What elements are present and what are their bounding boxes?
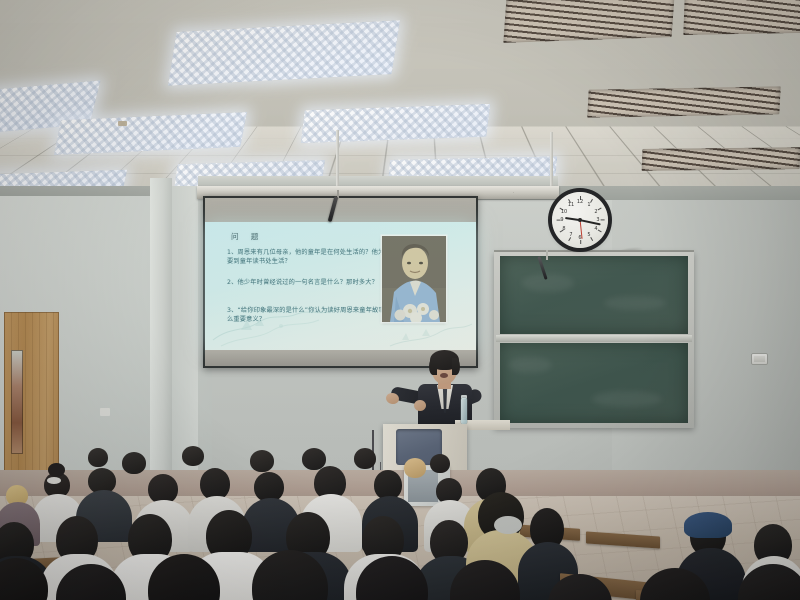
clock-numeral: 7 (569, 232, 572, 238)
student-audience (0, 430, 800, 600)
student-hair-bun (48, 463, 65, 477)
pointer-hook-rod (546, 250, 548, 260)
wall-clock: 12 1 2 3 4 5 6 7 8 9 10 11 (552, 192, 608, 248)
cap (684, 512, 732, 538)
presenter-hair-side (429, 358, 437, 375)
ceiling-air-vent (587, 86, 781, 117)
ceiling (0, 0, 800, 205)
screen-mount-rod (336, 130, 339, 188)
hair-clip (494, 516, 522, 534)
blackboard-panel-lower (500, 343, 688, 423)
chalk-smudge (508, 357, 552, 373)
screen-blank-top (205, 198, 476, 224)
ceiling-air-vent (503, 0, 674, 43)
chalk-rail (496, 335, 692, 342)
chalk-smudge (604, 296, 666, 310)
presenter-right-hand (414, 400, 426, 411)
student-head (354, 448, 376, 469)
student-head (88, 448, 108, 467)
slide-question-1: 1、周恩来有几位母亲，他的童年是在何处生活的？他为什么要到童年读书处生活？ (227, 248, 399, 266)
student-head (182, 446, 204, 466)
student-head (122, 452, 146, 474)
clock-tick (601, 219, 605, 220)
screen-housing-label: · (513, 190, 515, 195)
ceiling-light-panel (168, 20, 400, 86)
clock-numeral: 8 (562, 226, 565, 232)
projected-slide: 问 题 1、周恩来有几位母亲，他的童年是在何处生活的？他为什么要到童年读书处生活… (205, 222, 476, 350)
presenter-mouth (440, 373, 448, 378)
clock-numeral: 1 (587, 202, 590, 208)
lecture-hall-photo: · 问 题 1、周恩来有几位母亲，他的童年是在何处生活的？他为什么要到童年读书处… (0, 0, 800, 600)
clock-center-pivot (578, 218, 582, 222)
clock-numeral: 5 (587, 232, 590, 238)
slide-question-2: 2、他少年时曾经说过的一句名言是什么？那时多大？ (227, 278, 399, 287)
clock-numeral: 2 (594, 209, 597, 215)
student-head (404, 458, 426, 478)
hair-tie (47, 477, 61, 484)
student-head (302, 448, 326, 470)
student-head (430, 454, 450, 473)
ceiling-air-vent (683, 0, 800, 35)
ceiling-light-panel (301, 104, 491, 143)
presenter-hair-side (452, 358, 460, 375)
student-head (250, 450, 274, 472)
wall-socket[interactable] (100, 408, 110, 416)
clock-numeral: 12 (577, 199, 583, 205)
blackboard-panel-upper (500, 256, 688, 334)
clock-numeral: 11 (568, 202, 574, 208)
slide-title: 问 题 (231, 231, 263, 242)
clock-numeral: 4 (594, 226, 597, 232)
clock-tick (598, 207, 602, 210)
light-switch-panel[interactable] (752, 354, 767, 364)
slide-portrait-photo (382, 236, 446, 322)
chalk-smudge (592, 391, 662, 407)
desk (586, 531, 660, 548)
ceiling-air-vent (642, 147, 800, 171)
slide-question-3: 3、“给你印象最深的是什么”你认为读好周恩来童年故事有什么重要意义？ (227, 306, 399, 324)
chalk-smudge (522, 274, 574, 292)
water-bottle (461, 398, 467, 424)
ceiling-fixture-plate (118, 121, 127, 126)
clock-numeral: 10 (561, 209, 567, 215)
clock-tick (598, 229, 602, 232)
clock-numeral: 9 (560, 217, 563, 223)
